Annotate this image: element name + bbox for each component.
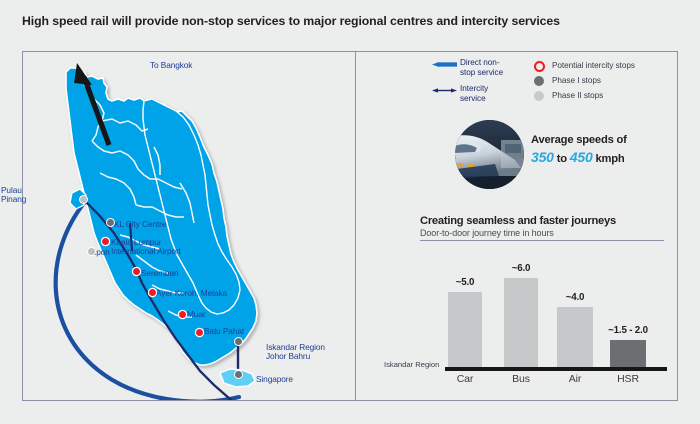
map-marker-batu-pahat[interactable] — [196, 329, 203, 336]
map-marker-muar[interactable] — [179, 311, 186, 318]
map-marker-iskandar-region-johor-bahru[interactable] — [235, 338, 242, 345]
intercity-service-arrow-icon — [432, 88, 457, 93]
speed-to-word: to — [557, 153, 567, 165]
legend-lines-group: Direct non- stop service Intercity servi… — [432, 58, 527, 110]
map-marker-pulau-pinang[interactable] — [80, 196, 87, 203]
bar-category-bus: Bus — [498, 373, 544, 385]
chart-title-divider — [420, 240, 664, 241]
map-marker-seremban[interactable] — [133, 268, 140, 275]
panel-vertical-divider — [355, 51, 356, 401]
average-speed-text: Average speeds of 350 to 450 kmph — [531, 134, 681, 165]
bar-hsr[interactable] — [610, 340, 646, 367]
map-marker-kl-city-centre[interactable] — [107, 219, 114, 226]
map-label-batu-pahat: Batu Pahat — [204, 327, 244, 337]
speed-unit: kmph — [595, 153, 624, 165]
red-ring-icon — [534, 61, 545, 72]
chart-title: Creating seamless and faster journeys — [420, 215, 670, 227]
map-marker-ipoh[interactable] — [88, 248, 95, 255]
bar-value-car: ~5.0 — [433, 277, 497, 288]
map-label-kl-city-centre: KL City Centre — [114, 220, 166, 230]
average-speed-line1: Average speeds of — [531, 134, 681, 146]
legend-direct-label-l1: Direct non- — [460, 58, 500, 67]
bar-car[interactable] — [448, 292, 482, 367]
map-marker-singapore[interactable] — [235, 371, 242, 378]
chart-baseline-axis — [445, 367, 667, 371]
bar-value-hsr: ~1.5 - 2.0 — [586, 325, 670, 336]
page-title: High speed rail will provide non-stop se… — [22, 14, 672, 28]
bar-category-hsr: HSR — [605, 373, 651, 385]
speed-from-value: 350 — [531, 149, 554, 165]
legend-potential-intercity-stops-label: Potential intercity stops — [552, 58, 672, 73]
map-marker-kuala-lumpur-international-airport[interactable] — [102, 238, 109, 245]
legend-item-phase-1-stops[interactable]: Phase I stops — [532, 73, 672, 88]
bar-category-car: Car — [442, 373, 488, 385]
map-label-pulau-pinang-l2: Pinang — [1, 195, 26, 205]
map-label-to-bangkok: To Bangkok — [150, 61, 192, 71]
legend-phase-2-stops-label: Phase II stops — [552, 88, 672, 103]
legend: Direct non- stop service Intercity servi… — [432, 58, 672, 120]
bar-category-air: Air — [552, 373, 598, 385]
legend-item-potential-intercity-stops[interactable]: Potential intercity stops — [532, 58, 672, 73]
legend-stops-group: Potential intercity stops Phase I stops … — [532, 58, 672, 103]
direct-service-arrow-icon — [432, 62, 457, 67]
dark-grey-dot-icon — [534, 76, 544, 86]
map-label-muar: Muar — [187, 310, 206, 320]
journey-time-chart: Creating seamless and faster journeys Do… — [420, 215, 670, 390]
train-photo-graphic — [455, 120, 524, 189]
chart-subtitle: Door-to-door journey time in hours — [420, 228, 670, 238]
map-label-ayer-keroh-melaka: Ayer Keroh, Melaka — [156, 289, 227, 299]
legend-item-direct-non-stop-service[interactable]: Direct non- stop service — [432, 58, 527, 77]
bar-air[interactable] — [557, 307, 593, 367]
bar-value-air: ~4.0 — [543, 292, 607, 303]
malaysia-map[interactable]: To Bangkok Pulau Pinang Ipoh KL City Cen… — [24, 55, 354, 400]
chart-origin-label: Iskandar Region — [384, 360, 439, 369]
map-label-kuala-lumpur-airport-l2: International Airport — [111, 247, 181, 257]
infographic-root: High speed rail will provide non-stop se… — [0, 0, 700, 424]
map-label-singapore: Singapore — [256, 375, 293, 385]
map-label-seremban: Seremban — [141, 269, 178, 279]
speed-to-value: 450 — [570, 149, 593, 165]
map-label-ipoh: Ipoh — [94, 248, 110, 258]
map-marker-ayer-keroh-melaka[interactable] — [149, 289, 156, 296]
legend-intercity-label-l1: Intercity — [460, 84, 488, 93]
legend-item-intercity-service[interactable]: Intercity service — [432, 84, 527, 103]
bar-value-bus: ~6.0 — [489, 263, 553, 274]
light-grey-dot-icon — [534, 91, 544, 101]
legend-intercity-label-l2: service — [460, 94, 486, 103]
chart-plot-area: Iskandar Region ~5.0 Car ~6.0 Bus ~4.0 A… — [420, 255, 670, 390]
average-speed-block: Average speeds of 350 to 450 kmph — [455, 120, 680, 192]
bar-bus[interactable] — [504, 278, 538, 367]
legend-direct-label-l2: stop service — [460, 68, 503, 77]
map-label-iskandar-region-l2: Johor Bahru — [266, 352, 310, 362]
legend-phase-1-stops-label: Phase I stops — [552, 73, 672, 88]
legend-item-phase-2-stops[interactable]: Phase II stops — [532, 88, 672, 103]
high-speed-train-photo — [455, 120, 524, 189]
